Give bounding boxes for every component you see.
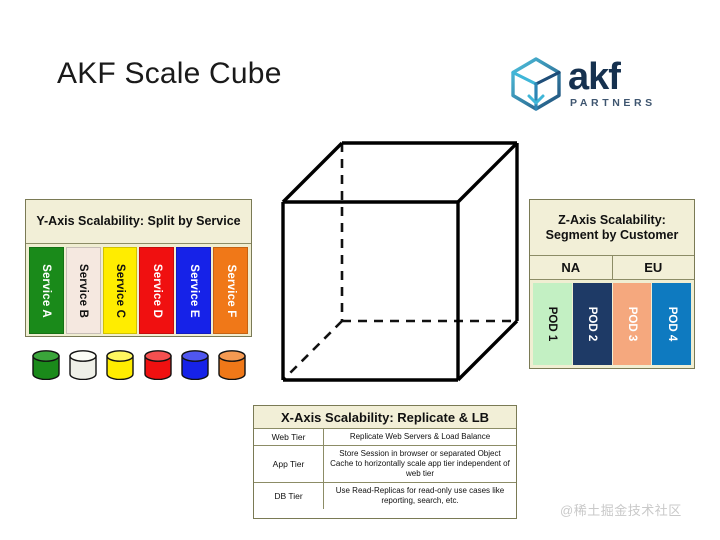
x-axis-scalability-panel: X-Axis Scalability: Replicate & LB Web T… [253,405,517,519]
database-cylinder-d [144,350,172,380]
service-bar-label: Service C [114,263,126,317]
tier-description: Store Session in browser or separated Ob… [324,446,517,483]
database-cylinder-a [32,350,60,380]
service-bar-c[interactable]: Service C [103,247,138,334]
table-row: DB Tier Use Read-Replicas for read-only … [254,483,516,510]
service-bar-list: Service A Service B Service C Service D … [26,244,251,337]
z-axis-header: Z-Axis Scalability: Segment by Customer [530,200,694,256]
service-bar-label: Service A [40,264,52,318]
service-bar-label: Service E [188,264,200,318]
pod-1[interactable]: POD 1 [533,283,572,365]
z-axis-title: Z-Axis Scalability: Segment by Customer [530,208,694,248]
logo-subtitle: PARTNERS [570,97,666,109]
akf-cube-logo-icon [508,56,564,112]
database-cylinder-b [69,350,97,380]
service-bar-label: Service F [225,264,237,317]
pod-label: POD 3 [626,307,638,342]
pod-label: POD 2 [586,307,598,342]
akf-partners-logo: akf PARTNERS [508,56,666,114]
z-axis-scalability-panel: Z-Axis Scalability: Segment by Customer … [529,199,695,369]
z-axis-region-row: NA EU [530,256,694,280]
region-na: NA [530,256,612,279]
table-row: App Tier Store Session in browser or sep… [254,446,516,483]
tier-description: Use Read-Replicas for read-only use case… [324,483,517,510]
database-cylinder-a-wrap [28,348,63,382]
database-cylinder-row [28,348,250,382]
watermark: @稀土掘金技术社区 [560,500,682,519]
logo-wordmark: akf PARTNERS [568,58,666,112]
tier-label: Web Tier [254,429,324,446]
region-eu: EU [612,256,695,279]
service-bar-e[interactable]: Service E [176,247,211,334]
service-bar-a[interactable]: Service A [29,247,64,334]
page-title: AKF Scale Cube [57,57,282,91]
database-cylinder-c-wrap [103,348,138,382]
pod-label: POD 4 [666,307,678,342]
y-axis-title: Y-Axis Scalability: Split by Service [32,209,244,234]
database-cylinder-c [106,350,134,380]
database-cylinder-b-wrap [65,348,100,382]
table-row: Web Tier Replicate Web Servers & Load Ba… [254,429,516,446]
y-axis-scalability-panel: Y-Axis Scalability: Split by Service Ser… [25,199,252,337]
x-axis-header: X-Axis Scalability: Replicate & LB [254,406,516,429]
service-bar-label: Service D [151,263,163,317]
database-cylinder-d-wrap [140,348,175,382]
database-cylinder-f-wrap [215,348,250,382]
pod-label: POD 1 [546,307,558,342]
service-bar-d[interactable]: Service D [139,247,174,334]
database-cylinder-e-wrap [177,348,212,382]
x-axis-title: X-Axis Scalability: Replicate & LB [281,410,489,425]
service-bar-label: Service B [77,263,89,317]
tier-description: Replicate Web Servers & Load Balance [324,429,517,446]
x-axis-table: Web Tier Replicate Web Servers & Load Ba… [254,429,516,509]
scale-cube-wireframe [270,130,528,392]
pod-2[interactable]: POD 2 [573,283,612,365]
pod-3[interactable]: POD 3 [613,283,652,365]
database-cylinder-e [181,350,209,380]
pod-list: POD 1 POD 2 POD 3 POD 4 [530,280,694,369]
service-bar-b[interactable]: Service B [66,247,101,334]
pod-4[interactable]: POD 4 [652,283,691,365]
tier-label: App Tier [254,446,324,483]
service-bar-f[interactable]: Service F [213,247,248,334]
logo-word: akf [568,58,666,96]
database-cylinder-f [218,350,246,380]
tier-label: DB Tier [254,483,324,510]
y-axis-header: Y-Axis Scalability: Split by Service [26,200,251,244]
